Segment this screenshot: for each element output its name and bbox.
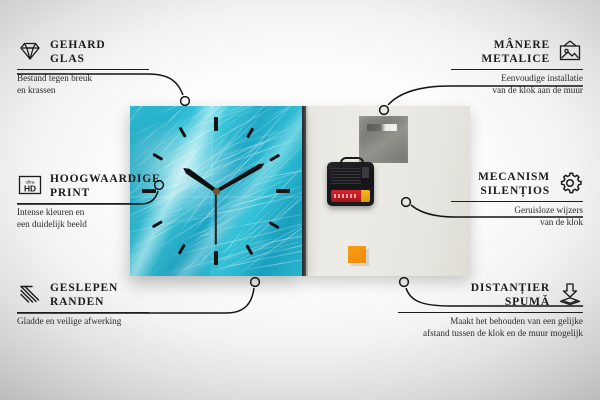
callout-title: MÂNERE METALICE xyxy=(481,38,550,66)
callout-rule xyxy=(17,69,149,70)
svg-text:HD: HD xyxy=(24,183,36,193)
wall-frame-hanger-icon xyxy=(557,38,583,64)
metal-hanger-plate xyxy=(359,116,408,163)
callout-desc: Bestand tegen breuk en krassen xyxy=(17,73,149,96)
hands-cap xyxy=(213,188,220,195)
callout-desc: Geruisloze wijzers van de klok xyxy=(451,205,583,228)
callout-title: HOOGWAARDIGE PRINT xyxy=(50,172,161,200)
battery xyxy=(331,190,370,202)
battery-text xyxy=(334,194,358,198)
callout-title: DISTANȚIER SPUMĂ xyxy=(471,281,550,309)
callout-desc: Maakt het behouden van een gelijke afsta… xyxy=(398,316,583,339)
callout-gehard-glas[interactable]: GEHARD GLAS Bestand tegen breuk en krass… xyxy=(17,38,149,96)
second-hand xyxy=(215,191,217,245)
mechanism-label xyxy=(331,168,361,184)
mechanism-knob xyxy=(362,167,369,178)
callout-distantier-spuma[interactable]: DISTANȚIER SPUMĂ Maakt het behouden van … xyxy=(398,281,583,339)
gear-icon xyxy=(557,170,583,196)
callout-desc: Eenvoudige installatie van de klok aan d… xyxy=(451,73,583,96)
callout-title: MECANISM SILENȚIOS xyxy=(478,170,550,198)
spacer-stack-icon xyxy=(557,281,583,307)
callout-rule xyxy=(451,201,583,202)
callout-rule xyxy=(398,312,583,313)
product-photo xyxy=(130,106,470,276)
callout-rule xyxy=(17,203,140,204)
callout-manere-metalice[interactable]: MÂNERE METALICE Eenvoudige installatie v… xyxy=(451,38,583,96)
callout-desc: Gladde en veilige afwerking xyxy=(17,316,149,328)
callout-title: GEHARD GLAS xyxy=(50,38,106,66)
callout-title: GESLEPEN RANDEN xyxy=(50,281,118,309)
mechanism-loop xyxy=(340,157,364,168)
hanger-slot xyxy=(367,124,397,131)
ultra-hd-icon: ultra HD xyxy=(17,172,43,198)
clock-mechanism xyxy=(327,162,374,206)
callout-rule xyxy=(451,69,583,70)
bevelled-edges-icon xyxy=(17,281,43,307)
callout-rule xyxy=(17,312,149,313)
infographic-canvas: GEHARD GLAS Bestand tegen breuk en krass… xyxy=(0,0,600,400)
callout-hoogwaardige-print[interactable]: ultra HD HOOGWAARDIGE PRINT Intense kleu… xyxy=(17,172,140,230)
callout-desc: Intense kleuren en een duidelijk beeld xyxy=(17,207,140,230)
callout-geslepen-randen[interactable]: GESLEPEN RANDEN Gladde en veilige afwerk… xyxy=(17,281,149,328)
foam-spacer xyxy=(348,246,366,263)
diamond-icon xyxy=(17,38,43,64)
callout-mecanism-silentios[interactable]: MECANISM SILENȚIOS Geruisloze wijzers va… xyxy=(451,170,583,228)
